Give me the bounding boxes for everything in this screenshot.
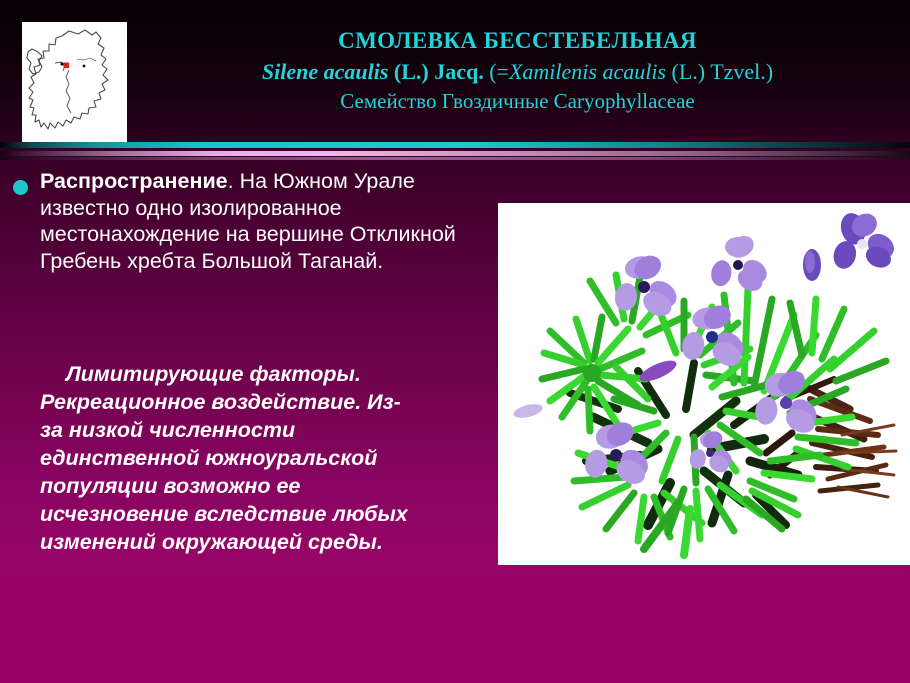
plant-illustration-image: [498, 203, 910, 565]
slide-header: СМОЛЕВКА БЕССТЕБЕЛЬНАЯ Silene acaulis (L…: [0, 0, 910, 140]
latin-name-line: Silene acaulis (L.) Jacq. (=Xamilenis ac…: [140, 56, 895, 87]
plant-illustration-panel: [498, 203, 910, 565]
distribution-heading: Распространение: [40, 169, 228, 193]
synonym-authority: (L.) Tzvel.): [672, 59, 774, 84]
limiting-factors-paragraph: Лимитирующие факторы. Рекреационное возд…: [40, 360, 420, 556]
family-line: Семейство Гвоздичные Caryophyllaceae: [140, 87, 895, 116]
distribution-bullet-item: Распространение. На Южном Урале известно…: [0, 168, 470, 274]
body-column: Распространение. На Южном Урале известно…: [0, 168, 470, 274]
page-title: СМОЛЕВКА БЕССТЕБЕЛЬНАЯ: [140, 26, 895, 56]
latin-species-name: Silene acaulis: [262, 59, 389, 84]
region-map-icon: [22, 22, 127, 144]
synonym-open-paren: (=: [489, 59, 509, 84]
synonym-species-name: Xamilenis acaulis: [509, 59, 666, 84]
divider-rule-cyan: [0, 142, 910, 148]
bullet-dot-icon: [13, 180, 28, 195]
distribution-paragraph: Распространение. На Южном Урале известно…: [40, 168, 456, 274]
title-block: СМОЛЕВКА БЕССТЕБЕЛЬНАЯ Silene acaulis (L…: [140, 26, 895, 116]
divider-rule-pink-secondary: [0, 157, 910, 160]
divider-rule-pink: [0, 151, 910, 156]
latin-authority: (L.) Jacq.: [394, 59, 484, 84]
region-map-thumbnail: [22, 22, 127, 144]
slide-canvas: СМОЛЕВКА БЕССТЕБЕЛЬНАЯ Silene acaulis (L…: [0, 0, 910, 683]
